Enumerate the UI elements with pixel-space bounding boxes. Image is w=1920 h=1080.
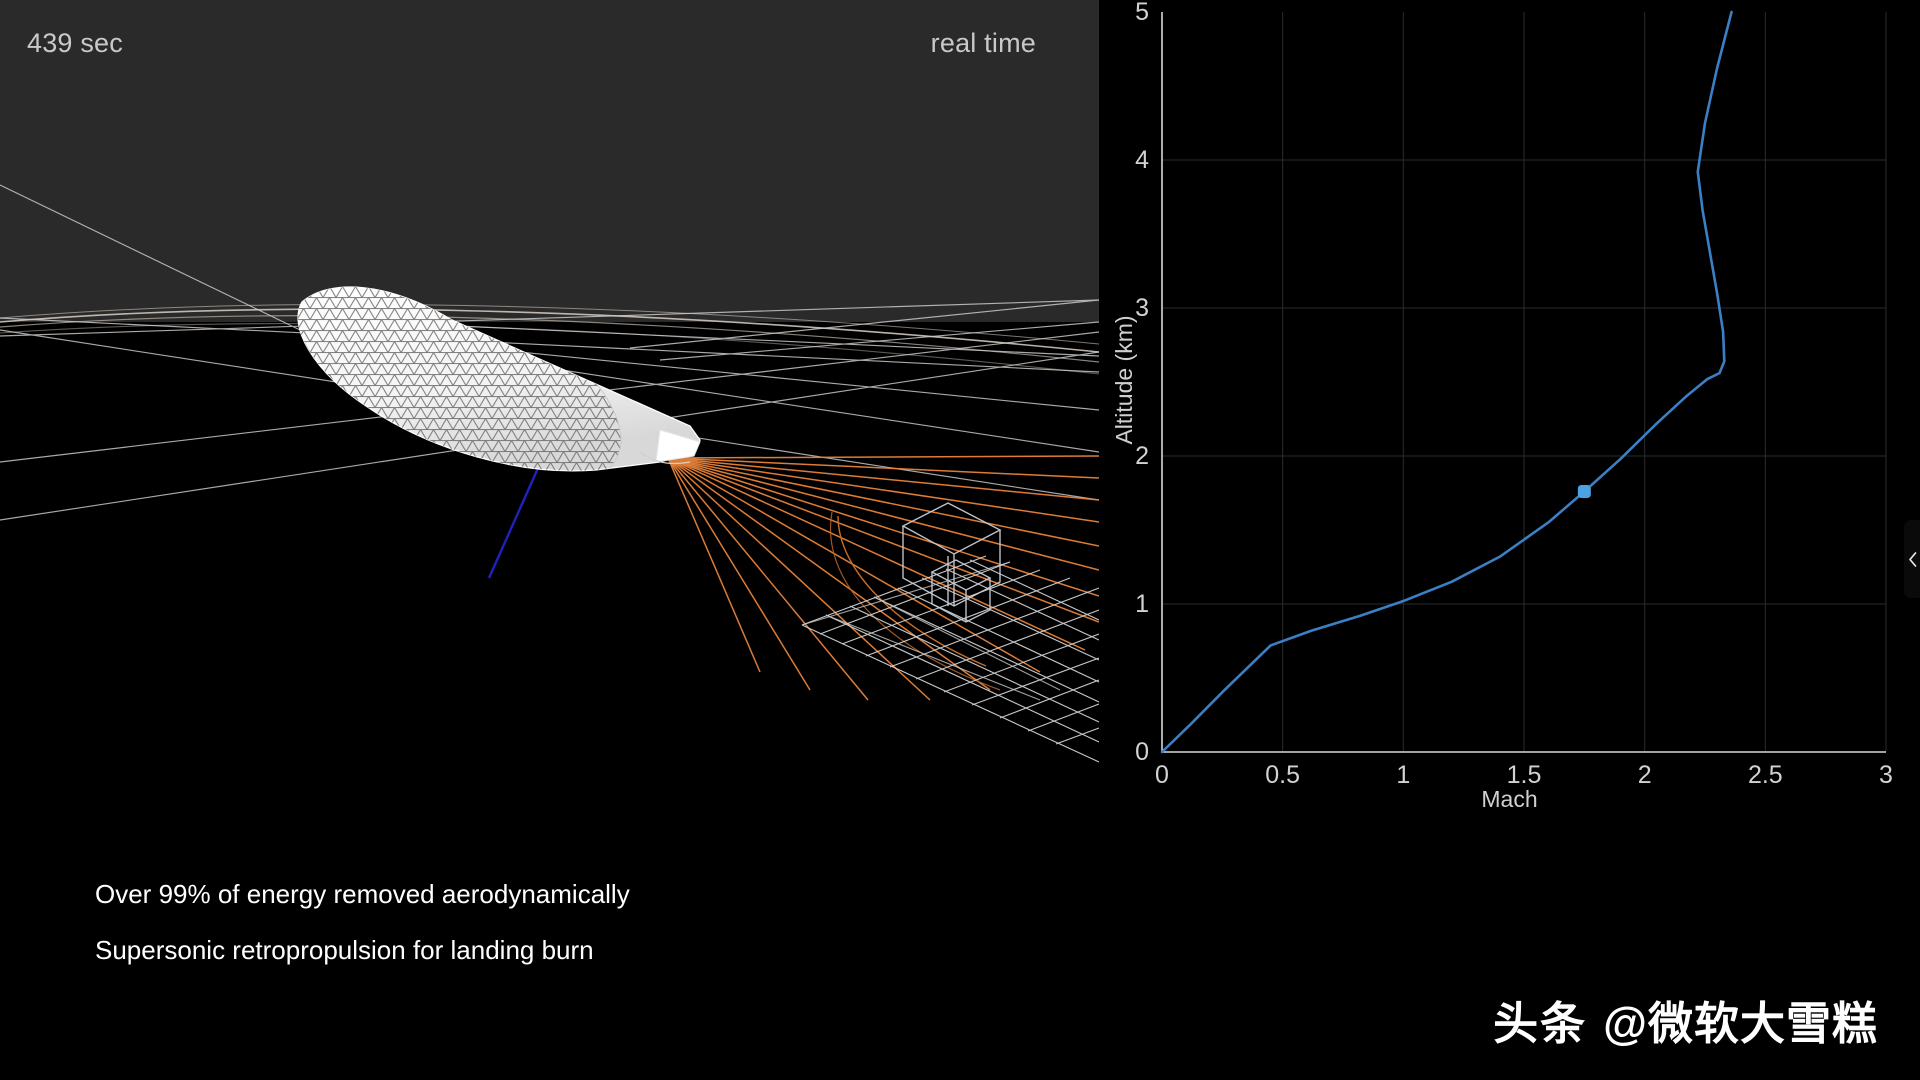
x-tick-label: 1 bbox=[1396, 761, 1410, 789]
x-axis-label: Mach bbox=[1099, 786, 1920, 813]
x-tick-label: 1.5 bbox=[1507, 761, 1542, 789]
starship-vehicle bbox=[250, 217, 700, 531]
x-tick-label: 0.5 bbox=[1265, 761, 1300, 789]
x-tick-label: 2.5 bbox=[1748, 761, 1783, 789]
app-root: 439 sec real time 01234500.511.522.53 Al… bbox=[0, 0, 1920, 1080]
elapsed-time-label: 439 sec bbox=[27, 28, 123, 59]
altitude-mach-chart-panel[interactable]: 01234500.511.522.53 bbox=[1099, 0, 1920, 825]
trajectory-scene-render bbox=[0, 0, 1099, 825]
vehicle-mesh-pattern bbox=[250, 217, 654, 531]
x-tick-label: 0 bbox=[1155, 761, 1169, 789]
playback-mode-label: real time bbox=[931, 28, 1036, 59]
chevron-left-icon bbox=[1908, 552, 1917, 567]
engine-exhaust-plume bbox=[668, 456, 1099, 700]
series-path bbox=[1162, 12, 1732, 752]
current-position-marker bbox=[1578, 485, 1591, 498]
caption-line-1: Over 99% of energy removed aerodynamical… bbox=[95, 866, 1095, 922]
panel-collapse-button[interactable] bbox=[1904, 520, 1920, 598]
watermark-handle: @微软大雪糕 bbox=[1603, 987, 1878, 1052]
y-axis-label: Altitude (km) bbox=[1111, 315, 1138, 444]
x-tick-label: 2 bbox=[1638, 761, 1652, 789]
y-axis-label-wrap: Altitude (km) bbox=[1108, 0, 1148, 760]
current-position-dot bbox=[1578, 485, 1591, 498]
3d-viewport[interactable]: 439 sec real time bbox=[0, 0, 1099, 825]
chart-gridlines bbox=[1162, 12, 1886, 752]
watermark: 头条 @微软大雪糕 bbox=[1493, 987, 1878, 1052]
altitude-vs-mach-chart: 01234500.511.522.53 bbox=[1099, 0, 1920, 825]
chart-tick-labels: 01234500.511.522.53 bbox=[1135, 0, 1893, 789]
caption-line-2: Supersonic retropropulsion for landing b… bbox=[95, 922, 1095, 978]
caption-block: Over 99% of energy removed aerodynamical… bbox=[95, 866, 1095, 978]
watermark-brand: 头条 bbox=[1493, 987, 1587, 1052]
chart-series-line bbox=[1162, 12, 1732, 752]
x-tick-label: 3 bbox=[1879, 761, 1893, 789]
